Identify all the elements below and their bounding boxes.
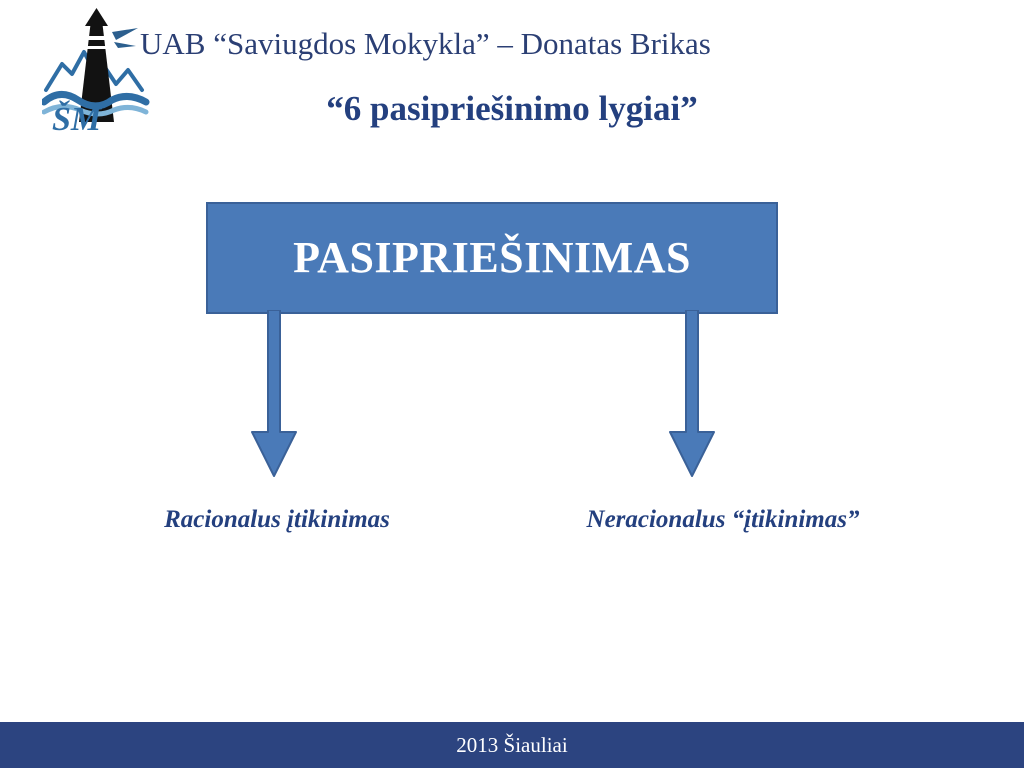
diagram-main-box-label: PASIPRIEŠINIMAS — [293, 233, 691, 283]
arrow-down-right-icon — [666, 310, 718, 480]
slide-footer-bar: 2013 Šiauliai — [0, 722, 1024, 768]
branch-label-rational: Racionalus įtikinimas — [122, 504, 432, 536]
diagram-main-box: PASIPRIEŠINIMAS — [206, 202, 778, 314]
slide-header-subtitle: “6 pasipriešinimo lygiai” — [0, 87, 1024, 131]
slide-footer-text: 2013 Šiauliai — [456, 732, 567, 758]
branch-label-irrational: Neracionalus “įtikinimas” — [532, 504, 914, 536]
arrow-down-left-icon — [248, 310, 300, 480]
slide-header-title: UAB “Saviugdos Mokykla” – Donatas Brikas — [140, 25, 930, 63]
slide-canvas: ŠM UAB “Saviugdos Mokykla” – Donatas Bri… — [0, 0, 1024, 768]
